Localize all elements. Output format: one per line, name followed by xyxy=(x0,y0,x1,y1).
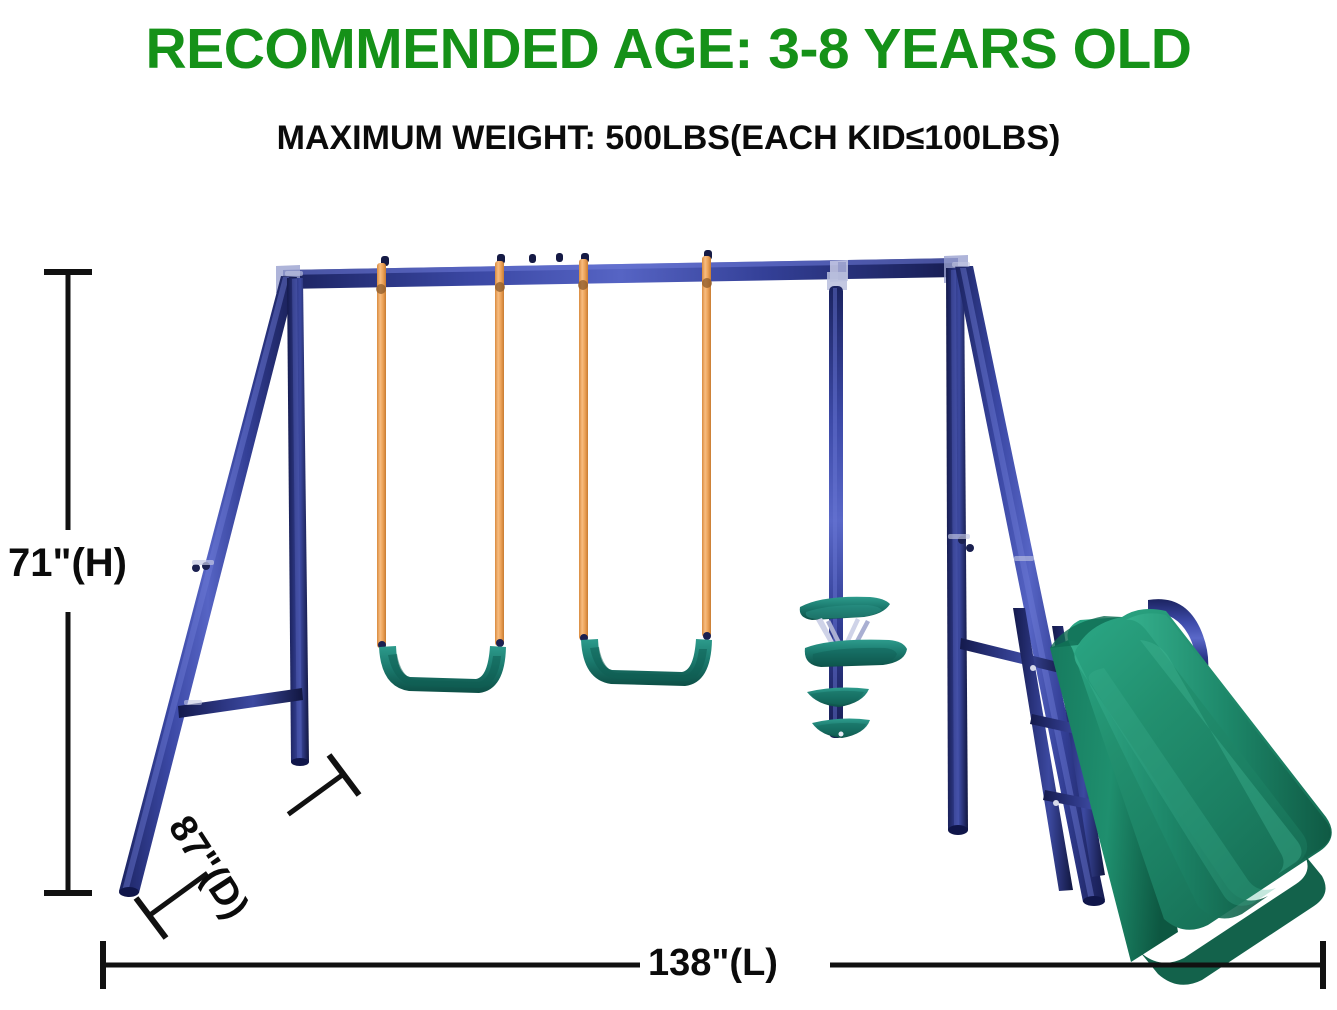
dimension-label-length: 138"(L) xyxy=(648,941,778,985)
slide xyxy=(1050,599,1332,985)
dimension-label-height: 71"(H) xyxy=(8,540,127,586)
diagram-page: RECOMMENDED AGE: 3-8 YEARS OLD MAXIMUM W… xyxy=(0,0,1337,1010)
belt-swing-right xyxy=(578,256,712,686)
glider-swing xyxy=(800,272,907,738)
belt-swing-left xyxy=(376,261,506,693)
left-a-frame xyxy=(119,265,309,897)
swing-set-diagram: 71"(H) 87"(D) 138"(L) xyxy=(0,0,1337,1010)
right-a-frame xyxy=(944,255,1105,906)
